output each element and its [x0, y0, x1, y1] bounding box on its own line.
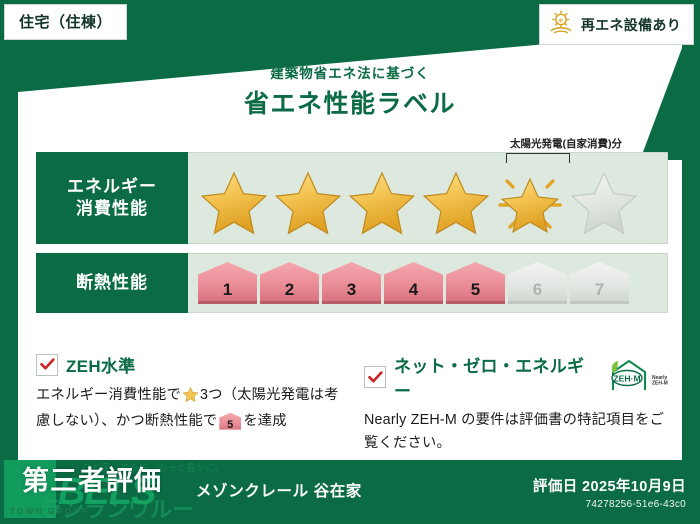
note-zeh-header: ZEH水準	[36, 352, 342, 377]
grade-number: 7	[595, 280, 604, 300]
grade-badge-6: 6	[508, 262, 567, 304]
grade-number: 5	[471, 280, 480, 300]
check-icon	[364, 366, 386, 388]
energy-performance-row: エネルギー 消費性能 太陽光発電(自家消費)分	[36, 152, 668, 244]
performance-rows: エネルギー 消費性能 太陽光発電(自家消費)分	[36, 152, 668, 322]
zeh-m-house-logo: ZEH·M Nearly ZEH-M	[608, 358, 670, 397]
label-footer: メゾンクレール 谷在家 評価日 2025年10月9日 74278256-51e6…	[0, 460, 700, 522]
grade-number: 5	[227, 419, 233, 431]
star-icon-solar-5	[494, 167, 566, 235]
note-nze-header: ネット・ゼロ・エネルギー ZEH·M Nearly ZEH-M	[364, 352, 670, 402]
note-nze-title: ネット・ゼロ・エネルギー	[394, 352, 596, 402]
star-icon-filled-3	[346, 167, 418, 235]
renewable-badge-label: 再エネ設備あり	[581, 15, 681, 35]
energy-performance-label: エネルギー 消費性能	[36, 152, 188, 244]
star-icon-filled-4	[420, 167, 492, 235]
star-icon-filled-1	[198, 167, 270, 235]
grade-badge-2: 2	[260, 262, 319, 304]
grade-badge-4: 4	[384, 262, 443, 304]
sun-icon: e	[548, 10, 574, 39]
grade-number: 6	[533, 280, 542, 300]
energy-performance-label: 住宅（住棟） e 再エネ設備あり 建築物省エネ法に基づく 省エネ性能ラベル	[0, 0, 700, 522]
note-zeh-body-pre: エネルギー消費性能で	[36, 387, 181, 403]
note-zeh-body: エネルギー消費性能で3つ（太陽光発電は考慮しない）、かつ断熱性能で5を達成	[36, 384, 342, 432]
house-type-tag: 住宅（住棟）	[4, 4, 127, 40]
grade-badge-inline: 5	[219, 413, 241, 430]
energy-label-line2: 消費性能	[76, 198, 148, 220]
note-zeh-title: ZEH水準	[66, 352, 136, 377]
grade-badge-5: 5	[446, 262, 505, 304]
grade-number: 1	[223, 280, 232, 300]
energy-star-rating: 太陽光発電(自家消費)分	[188, 152, 668, 244]
evaluation-date: 評価日 2025年10月9日	[533, 475, 686, 496]
property-name: メゾンクレール 谷在家	[196, 479, 362, 501]
star-icon-empty-6	[568, 167, 640, 235]
evaluation-id: 74278256-51e6-43c0	[533, 499, 686, 510]
solar-annotation-label: 太陽光発電(自家消費)分	[476, 136, 656, 151]
evaluation-info: 評価日 2025年10月9日 74278256-51e6-43c0	[533, 475, 686, 510]
note-nze-body: Nearly ZEH-M の要件は評価書の特記項目をご覧ください。	[364, 409, 670, 454]
note-zeh-body-post: を達成	[243, 413, 287, 429]
solar-annotation-bracket	[506, 153, 570, 163]
renewable-equipment-badge: e 再エネ設備あり	[539, 4, 694, 45]
star-icon-inline	[182, 390, 199, 406]
grade-list: 1 2 3 4 5	[198, 262, 629, 304]
check-icon	[36, 354, 58, 376]
svg-text:ZEH-M: ZEH-M	[652, 380, 668, 386]
title-subtitle: 建築物省エネ法に基づく	[0, 62, 700, 82]
house-type-tag-label: 住宅（住棟）	[19, 14, 112, 31]
insulation-grade-scale: 1 2 3 4 5	[188, 253, 668, 313]
insulation-performance-row: 断熱性能 1 2 3	[36, 253, 668, 313]
label-notes: ZEH水準 エネルギー消費性能で3つ（太陽光発電は考慮しない）、かつ断熱性能で5…	[36, 352, 670, 454]
grade-badge-1: 1	[198, 262, 257, 304]
page-title: 省エネ性能ラベル	[0, 84, 700, 120]
grade-number: 2	[285, 280, 294, 300]
note-net-zero-energy: ネット・ゼロ・エネルギー ZEH·M Nearly ZEH-M Nearly Z…	[364, 352, 670, 454]
svg-text:ZEH·M: ZEH·M	[613, 373, 640, 383]
energy-label-line1: エネルギー	[67, 176, 157, 198]
grade-badge-3: 3	[322, 262, 381, 304]
star-list	[198, 167, 640, 235]
note-zeh-standard: ZEH水準 エネルギー消費性能で3つ（太陽光発電は考慮しない）、かつ断熱性能で5…	[36, 352, 342, 454]
grade-badge-7: 7	[570, 262, 629, 304]
insulation-performance-label: 断熱性能	[36, 253, 188, 313]
insulation-label-text: 断熱性能	[76, 272, 148, 294]
grade-number: 4	[409, 280, 418, 300]
svg-text:e: e	[559, 18, 563, 25]
label-title-block: 建築物省エネ法に基づく 省エネ性能ラベル	[0, 62, 700, 120]
star-icon-filled-2	[272, 167, 344, 235]
grade-number: 3	[347, 280, 356, 300]
